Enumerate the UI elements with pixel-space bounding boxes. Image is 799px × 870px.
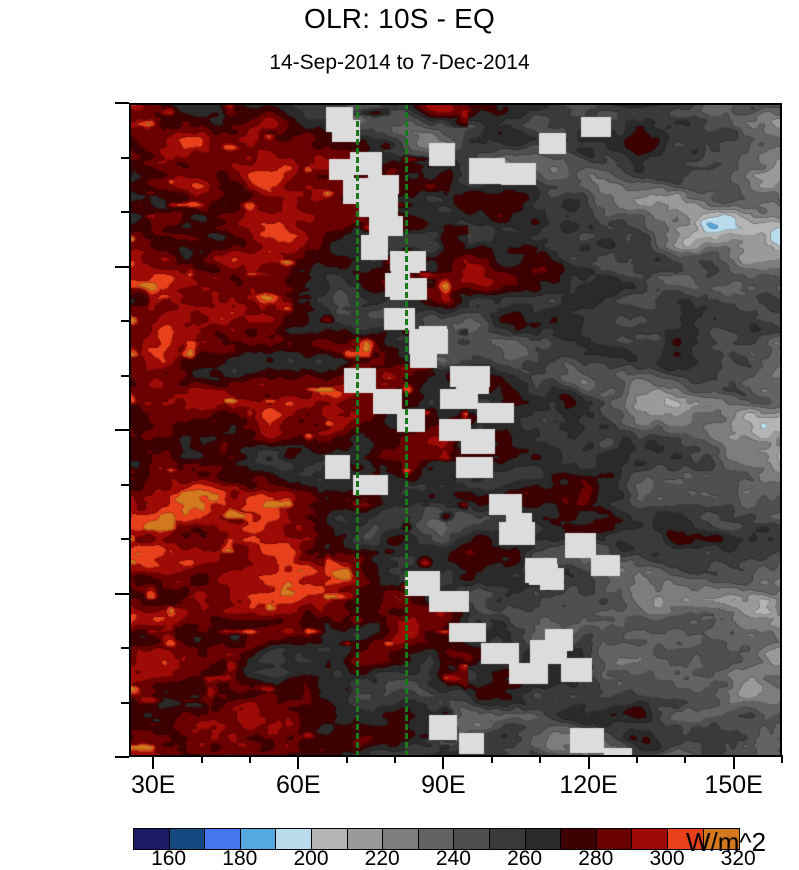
- colorbar-swatch: [632, 829, 668, 849]
- colorbar-tick-label: 240: [423, 848, 483, 870]
- x-tick-minor: [781, 755, 783, 763]
- y-tick-minor: [121, 157, 129, 159]
- colorbar-tick-label: 220: [352, 848, 412, 870]
- x-axis: 30E60E90E120E150E: [129, 757, 782, 817]
- y-tick-minor: [121, 538, 129, 540]
- x-tick-major: [297, 755, 299, 769]
- colorbar-swatch: [383, 829, 419, 849]
- x-axis-label: 150E: [674, 771, 794, 799]
- colorbar-swatch: [597, 829, 633, 849]
- colorbar-swatch: [561, 829, 597, 849]
- page-title: OLR: 10S - EQ: [0, 2, 799, 36]
- olr-contour-field: [129, 103, 782, 757]
- colorbar-swatch: [348, 829, 384, 849]
- colorbar-swatch: [490, 829, 526, 849]
- colorbar-swatch: [170, 829, 206, 849]
- figure-subtitle: 14-Sep-2014 to 7-Dec-2014: [0, 50, 799, 76]
- y-tick-minor: [121, 320, 129, 322]
- x-axis-label: 120E: [529, 771, 649, 799]
- y-tick-major: [115, 266, 129, 268]
- colorbar-swatch: [312, 829, 348, 849]
- colorbar-swatch: [241, 829, 277, 849]
- x-tick-minor: [684, 755, 686, 763]
- y-tick-minor: [121, 484, 129, 486]
- colorbar-swatch: [276, 829, 312, 849]
- x-tick-major: [588, 755, 590, 769]
- y-tick-major: [115, 102, 129, 104]
- y-tick-major: [115, 593, 129, 595]
- colorbar-tick-label: 260: [495, 848, 555, 870]
- x-tick-minor: [346, 755, 348, 763]
- y-tick-minor: [121, 702, 129, 704]
- x-axis-label: 90E: [383, 771, 503, 799]
- colorbar-swatch: [134, 829, 170, 849]
- x-tick-major: [733, 755, 735, 769]
- x-tick-minor: [201, 755, 203, 763]
- reference-vline: [356, 103, 359, 757]
- x-tick-minor: [491, 755, 493, 763]
- plot-area: [129, 103, 782, 757]
- colorbar-tick-label: 200: [281, 848, 341, 870]
- reference-vline: [405, 103, 408, 757]
- y-tick-minor: [121, 647, 129, 649]
- colorbar-unit-label: W/m^2: [686, 828, 766, 856]
- x-tick-minor: [636, 755, 638, 763]
- colorbar-swatch: [205, 829, 241, 849]
- colorbar-swatch: [526, 829, 562, 849]
- colorbar-labels: 160180200220240260280300320: [0, 848, 799, 870]
- x-tick-major: [442, 755, 444, 769]
- y-tick-minor: [121, 211, 129, 213]
- colorbar-swatch: [454, 829, 490, 849]
- x-tick-minor: [539, 755, 541, 763]
- x-axis-label: 60E: [238, 771, 358, 799]
- colorbar-swatch: [419, 829, 455, 849]
- colorbar-tick-label: 180: [210, 848, 270, 870]
- x-axis-label: 30E: [93, 771, 213, 799]
- colorbar-tick-label: 280: [566, 848, 626, 870]
- y-axis: 14-Sep5-Oct26-Oct16-Nov7-Dec: [129, 103, 131, 757]
- y-tick-major: [115, 429, 129, 431]
- colorbar-tick-label: 160: [139, 848, 199, 870]
- olr-hovmoller-figure: OLR: 10S - EQ 14-Sep-2014 to 7-Dec-2014 …: [0, 0, 799, 869]
- x-tick-major: [152, 755, 154, 769]
- y-tick-minor: [121, 375, 129, 377]
- x-tick-minor: [394, 755, 396, 763]
- x-tick-minor: [249, 755, 251, 763]
- y-tick-major: [115, 756, 129, 758]
